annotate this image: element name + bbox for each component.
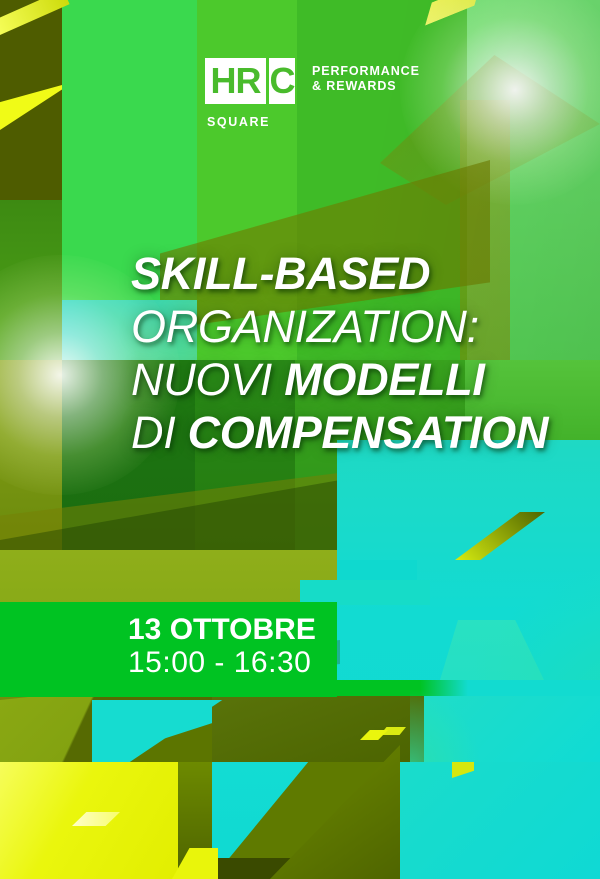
event-date: 13 OTTOBRE: [128, 613, 316, 647]
hrc-logo-mark: HR C: [205, 58, 295, 104]
brand-tagline-line1: PERFORMANCE: [312, 64, 420, 79]
title-line-3-regular: NUOVI: [131, 354, 284, 405]
poster-content: HR C SQUARE PERFORMANCE & REWARDS SKILL-…: [0, 0, 600, 879]
brand-tagline-line2: & REWARDS: [312, 79, 420, 94]
title-line-1: SKILL-BASED: [131, 247, 571, 300]
brand-tagline: PERFORMANCE & REWARDS: [312, 64, 420, 94]
title-line-1-text: SKILL-BASED: [131, 248, 430, 299]
title-line-4: DI COMPENSATION: [131, 406, 571, 459]
title-line-2: ORGANIZATION:: [131, 300, 571, 353]
page-title: SKILL-BASED ORGANIZATION: NUOVI MODELLI …: [131, 247, 571, 459]
title-line-3-bold: MODELLI: [284, 354, 484, 405]
title-line-3: NUOVI MODELLI: [131, 353, 571, 406]
event-poster: HR C SQUARE PERFORMANCE & REWARDS SKILL-…: [0, 0, 600, 879]
hrc-logo-box-c: C: [269, 58, 295, 104]
title-line-4-bold: COMPENSATION: [188, 407, 549, 458]
hrc-logo-subtitle: SQUARE: [207, 115, 270, 129]
title-line-4-regular: DI: [131, 407, 188, 458]
hrc-logo-box-hr: HR: [205, 58, 266, 104]
event-time: 15:00 - 16:30: [128, 646, 311, 680]
title-line-2-text: ORGANIZATION:: [131, 301, 479, 352]
brand-logo: HR C SQUARE PERFORMANCE & REWARDS: [205, 58, 420, 104]
